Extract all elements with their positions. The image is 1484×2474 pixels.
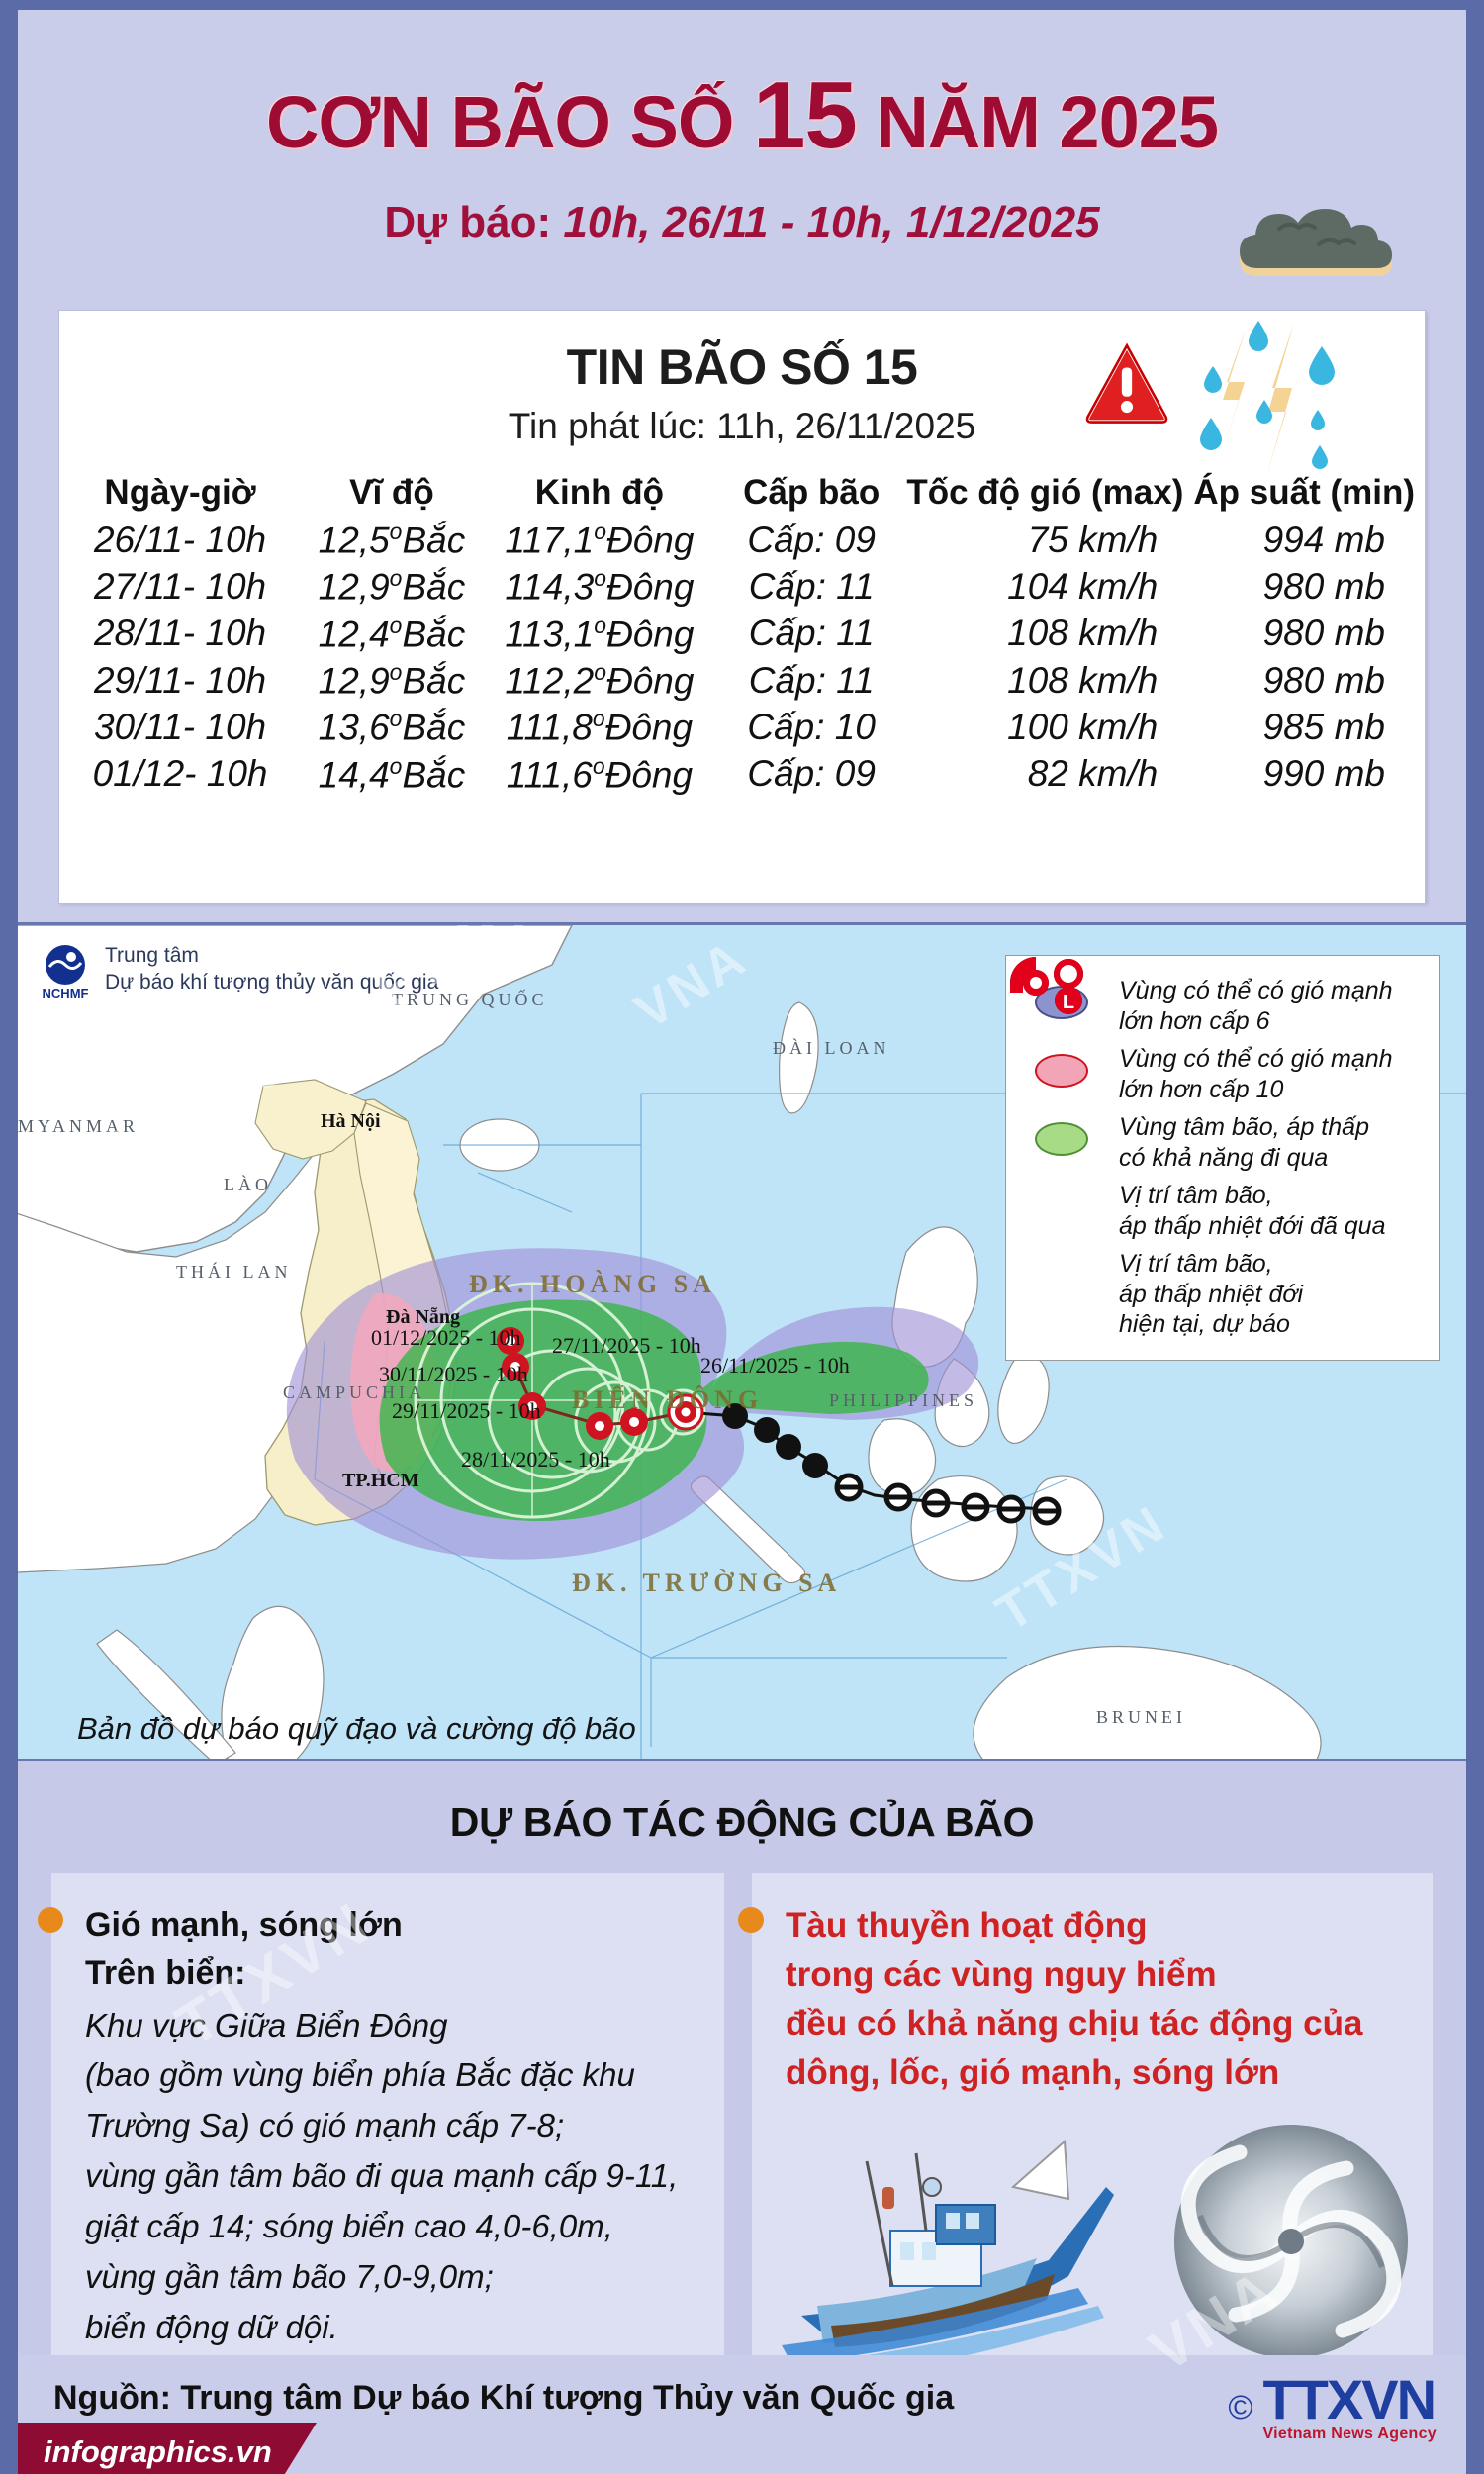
cell-latitude: 12,4oBắc [301,611,483,657]
cell-date: 29/11- 10h [59,657,301,704]
table-row: 01/12- 10h14,4oBắc111,6oĐôngCấp: 0982 km… [59,751,1425,798]
map-track-time-label: 28/11/2025 - 10h [461,1447,610,1473]
site-badge[interactable]: infographics.vn [0,2423,317,2474]
map-track-time-label: 01/12/2025 - 10h [371,1325,521,1351]
map-city-label: Hà Nội [321,1110,381,1133]
cell-date: 27/11- 10h [59,563,301,610]
table-row: 26/11- 10h12,5oBắc117,1oĐôngCấp: 0975 km… [59,517,1425,563]
cell-date: 28/11- 10h [59,611,301,657]
impact-body-line: Trường Sa) có gió mạnh cấp 7-8; [85,2103,702,2149]
impact-warning-line: Tàu thuyền hoạt động [786,1901,1411,1951]
col-wind: Tốc độ gió (max) [906,471,1193,517]
map-track-time-label: 27/11/2025 - 10h [552,1333,701,1359]
cell-category: Cấp: 11 [716,611,906,657]
legend-row: Vùng tâm bão, áp thấpcó khả năng đi qua [1016,1108,1426,1173]
cell-wind-speed: 104 km/h [906,563,1193,610]
title-number: 15 [753,62,857,168]
table-row: 27/11- 10h12,9oBắc114,3oĐôngCấp: 11104 k… [59,563,1425,610]
nchmf-logo-label: NCHMF [38,986,93,1000]
cell-pressure: 980 mb [1193,563,1425,610]
nchmf-logo-box: NCHMF Trung tâm Dự báo khí tượng thủy vă… [32,937,448,1000]
svg-text:L: L [1063,992,1074,1013]
map-region-label: PHILIPPINES [829,1390,977,1411]
map-region-label: MYANMAR [18,1116,139,1137]
table-row: 28/11- 10h12,4oBắc113,1oĐôngCấp: 11108 k… [59,611,1425,657]
impact-title: DỰ BÁO TÁC ĐỘNG CỦA BÃO [18,1761,1466,1846]
cell-pressure: 985 mb [1193,704,1425,750]
cell-date: 01/12- 10h [59,751,301,798]
impact-warning-line: đều có khả năng chịu tác động của [786,1999,1411,2048]
col-lat: Vĩ độ [301,471,483,517]
ttxvn-logo: © TTXVN Vietnam News Agency [1228,2373,1437,2443]
legend-row: Vùng có thể có gió mạnhlớn hơn cấp 10 [1016,1040,1426,1104]
impact-body-line: vùng gần tâm bão đi qua mạnh cấp 9-11, [85,2153,702,2200]
map-sea-label: ĐK. TRƯỜNG SA [572,1569,841,1598]
cell-longitude: 113,1oĐông [483,611,716,657]
cell-category: Cấp: 11 [716,657,906,704]
legend-label: Vùng có thể có gió mạnhlớn hơn cấp 10 [1119,1040,1393,1104]
impact-body-line: vùng gần tâm bão 7,0-9,0m; [85,2254,702,2301]
cell-longitude: 111,6oĐông [483,751,716,798]
cell-longitude: 117,1oĐông [483,517,716,563]
cell-latitude: 12,5oBắc [301,517,483,563]
site-url: infographics.vn [44,2434,272,2470]
impact-body-line: giật cấp 14; sóng biển cao 4,0-6,0m, [85,2204,702,2250]
legend-label: Vùng có thể có gió mạnhlớn hơn cấp 6 [1119,972,1393,1036]
impact-warning-text: Tàu thuyền hoạt độngtrong các vùng nguy … [786,1901,1411,2098]
page-title: CƠN BÃO SỐ 15 NĂM 2025 [18,61,1466,170]
cell-date: 26/11- 10h [59,517,301,563]
warning-triangle-icon [1084,340,1169,426]
cell-wind-speed: 82 km/h [906,751,1193,798]
impact-warning-line: dông, lốc, gió mạnh, sóng lớn [786,2048,1411,2098]
map-caption: Bản đồ dự báo quỹ đạo và cường độ bão [77,1711,636,1747]
map-sea-label: BIỂN ĐÔNG [572,1385,763,1415]
map-sea-label: ĐK. HOÀNG SA [469,1270,716,1299]
impact-subheading: Trên biển: [85,1950,702,1998]
legend-row: LVị trí tâm bão,áp thấp nhiệt đớihiện tạ… [1016,1245,1426,1340]
map-city-label: TP.HCM [342,1470,419,1492]
col-lon: Kinh độ [483,471,716,517]
bullet-dot-icon [38,1907,63,1933]
impact-card-wind: Gió mạnh, sóng lớn Trên biển: Khu vực Gi… [51,1873,724,2373]
legend-label: Vị trí tâm bão,áp thấp nhiệt đới đã qua [1119,1177,1386,1241]
fishing-boat-icon [772,2122,1187,2379]
cell-category: Cấp: 10 [716,704,906,750]
title-prefix: CƠN BÃO SỐ [266,81,733,163]
legend-label: Vị trí tâm bão,áp thấp nhiệt đớihiện tại… [1119,1245,1303,1340]
table-row: 29/11- 10h12,9oBắc112,2oĐôngCấp: 11108 k… [59,657,1425,704]
cell-pressure: 980 mb [1193,657,1425,704]
ttxvn-brand: TTXVN [1262,2373,1437,2426]
col-cat: Cấp bão [716,471,906,517]
cell-pressure: 994 mb [1193,517,1425,563]
legend-row: LVị trí tâm bão,áp thấp nhiệt đới đã qua [1016,1177,1426,1241]
cell-latitude: 12,9oBắc [301,657,483,704]
footer: Nguồn: Trung tâm Dự báo Khí tượng Thủy v… [18,2355,1466,2474]
nchmf-agency-name: Trung tâm Dự báo khí tượng thủy văn quốc… [105,942,438,997]
map-region-label: TRUNG QUỐC [392,990,548,1010]
bullet-dot-icon [738,1907,764,1933]
cell-date: 30/11- 10h [59,704,301,750]
forecast-panel: TIN BÃO SỐ 15 Tin phát lúc: 11h, 26/11/2… [58,310,1426,904]
ellipse-green-icon [1016,1108,1107,1170]
header: CƠN BÃO SỐ 15 NĂM 2025 Dự báo: 10h, 26/1… [18,10,1466,297]
ellipse-pink-icon [1016,1040,1107,1101]
cell-pressure: 980 mb [1193,611,1425,657]
impact-card-vessels: Tàu thuyền hoạt độngtrong các vùng nguy … [752,1873,1433,2373]
cell-latitude: 14,4oBắc [301,751,483,798]
forecast-table: Ngày-giờ Vĩ độ Kinh độ Cấp bão Tốc độ gi… [59,471,1425,798]
cell-latitude: 13,6oBắc [301,704,483,750]
cell-wind-speed: 75 km/h [906,517,1193,563]
agency-line-2: Dự báo khí tượng thủy văn quốc gia [105,969,438,996]
map-legend: Vùng có thể có gió mạnhlớn hơn cấp 6Vùng… [1005,955,1440,1361]
infographic-page: CƠN BÃO SỐ 15 NĂM 2025 Dự báo: 10h, 26/1… [0,0,1484,2474]
cell-category: Cấp: 11 [716,563,906,610]
impact-heading: Gió mạnh, sóng lớn [85,1901,702,1950]
cell-longitude: 114,3oĐông [483,563,716,610]
forecast-map[interactable]: NCHMF Trung tâm Dự báo khí tượng thủy vă… [18,922,1466,1761]
impact-cards: Gió mạnh, sóng lớn Trên biển: Khu vực Gi… [18,1846,1466,2373]
map-track-time-label: 26/11/2025 - 10h [700,1353,850,1379]
cell-longitude: 112,2oĐông [483,657,716,704]
cyclone-satellite-icon [1167,2118,1415,2365]
map-region-label: ĐÀI LOAN [773,1038,889,1059]
forecast-period-label: Dự báo: [384,198,551,246]
impact-body-line: (bao gồm vùng biển phía Bắc đặc khu [85,2052,702,2099]
legend-label: Vùng tâm bão, áp thấpcó khả năng đi qua [1119,1108,1369,1173]
cell-wind-speed: 100 km/h [906,704,1193,750]
red-storm-symbols-icon: L [1016,1245,1107,1306]
map-region-label: BRUNEI [1096,1707,1186,1728]
impact-body: Khu vực Giữa Biển Đông(bao gồm vùng biển… [85,2003,702,2351]
map-track-time-label: 30/11/2025 - 10h [379,1362,528,1387]
cell-pressure: 990 mb [1193,751,1425,798]
cell-longitude: 111,8oĐông [483,704,716,750]
title-suffix: NĂM 2025 [876,81,1218,163]
agency-line-1: Trung tâm [105,942,438,969]
nchmf-logo-icon: NCHMF [38,941,93,997]
ttxvn-brand-sub: Vietnam News Agency [1262,2426,1437,2443]
storm-cloud-icon [1214,183,1441,302]
table-row: 30/11- 10h13,6oBắc111,8oĐôngCấp: 10100 k… [59,704,1425,750]
copyright-icon: © [1228,2389,1252,2427]
impact-section: DỰ BÁO TÁC ĐỘNG CỦA BÃO Gió mạnh, sóng l… [18,1761,1466,2355]
map-region-label: THÁI LAN [176,1262,291,1283]
cell-category: Cấp: 09 [716,751,906,798]
rain-lightning-icon [1187,319,1385,487]
map-track-time-label: 29/11/2025 - 10h [392,1398,541,1424]
cell-latitude: 12,9oBắc [301,563,483,610]
cell-wind-speed: 108 km/h [906,611,1193,657]
map-region-label: LÀO [224,1175,272,1195]
black-storm-symbols-icon: L [1016,1177,1107,1238]
forecast-period-value: 10h, 26/11 - 10h, 1/12/2025 [563,198,1099,246]
impact-body-line: biển động dữ dội. [85,2305,702,2351]
impact-warning-line: trong các vùng nguy hiểm [786,1951,1411,2000]
cell-wind-speed: 108 km/h [906,657,1193,704]
col-date: Ngày-giờ [59,471,301,517]
impact-body-line: Khu vực Giữa Biển Đông [85,2003,702,2049]
source-credit: Nguồn: Trung tâm Dự báo Khí tượng Thủy v… [53,2379,954,2418]
cell-category: Cấp: 09 [716,517,906,563]
